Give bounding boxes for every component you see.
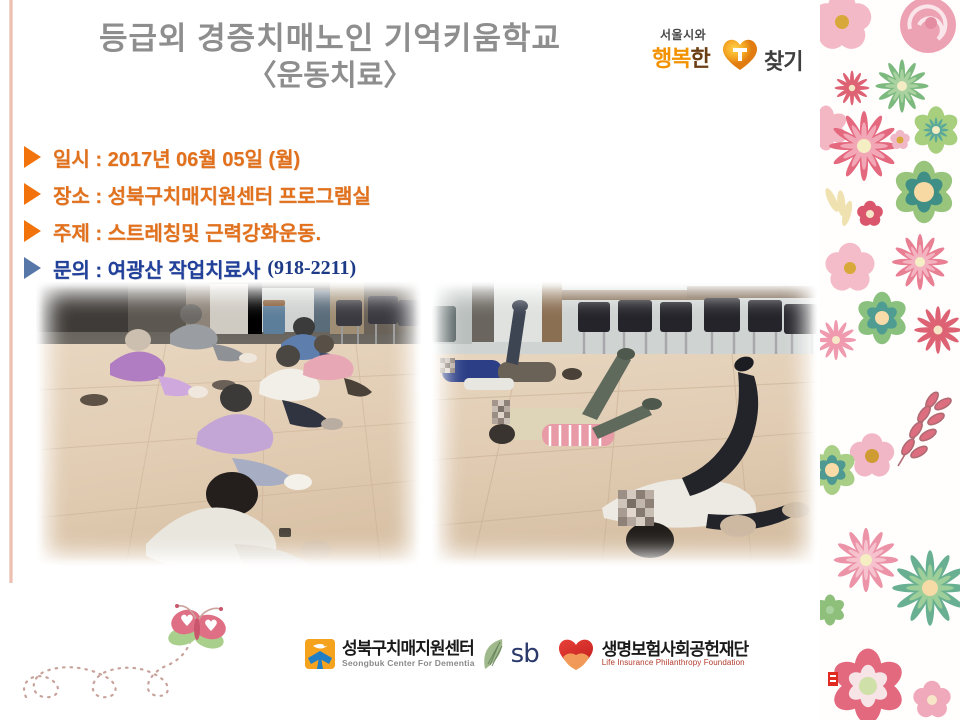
- triangle-bullet-icon: [24, 146, 41, 168]
- seoul-logo-main-text: 행복한: [652, 41, 710, 73]
- seoul-logo-main-b: 한: [690, 46, 709, 71]
- list-item-text: 주제 : 스트레칭및 근력강화운동.: [53, 217, 321, 246]
- life-insurance-foundation-logo: 생명보험사회공헌재단 Life Insurance Philanthropy F…: [557, 637, 748, 671]
- seoul-logo-main-a: 행복: [652, 46, 690, 71]
- triangle-bullet-icon: [24, 183, 41, 205]
- butterfly-icon: [12, 585, 262, 705]
- seongbuk-center-name-kr: 성북구치매지원센터: [342, 640, 475, 658]
- photo-seated-stretching-image: [36, 282, 421, 566]
- life-insurance-name-kr: 생명보험사회공헌재단: [602, 641, 748, 659]
- seoul-logo-tail-text: 찾기: [764, 44, 802, 76]
- photo-floor-leg-raises: [432, 282, 817, 566]
- list-item-text: 문의 : 여광산 작업치료사: [53, 254, 260, 283]
- red-heart-hands-icon: [557, 637, 595, 671]
- seongbuk-center-logo: 성북구치매지원센터 Seongbuk Center For Dementia s…: [305, 637, 539, 671]
- photo-floor-leg-raises-image: [432, 282, 817, 566]
- seongbuk-center-name-en: Seongbuk Center For Dementia: [342, 658, 475, 668]
- heart-icon: [720, 36, 760, 72]
- sb-leaf-icon: [482, 637, 504, 671]
- seongbuk-star-icon: [305, 639, 335, 669]
- seoul-happy-logo: 서울시와 행복한 찾기: [652, 26, 822, 82]
- list-item: 문의 : 여광산 작업치료사 (918-2211): [24, 251, 624, 285]
- photo-seated-stretching: [36, 282, 421, 566]
- footer-logos: 성북구치매지원센터 Seongbuk Center For Dementia s…: [305, 628, 748, 680]
- title-line-1: 등급외 경증치매노인 기억키움학교: [0, 22, 660, 57]
- slide-canvas: 등급외 경증치매노인 기억키움학교 〈운동치료〉 서울시와 행복한 찾기: [0, 0, 960, 720]
- list-item: 일시 : 2017년 06월 05일 (월): [24, 140, 624, 174]
- list-item: 주제 : 스트레칭및 근력강화운동.: [24, 214, 624, 248]
- page-title: 등급외 경증치매노인 기억키움학교 〈운동치료〉: [0, 22, 660, 94]
- info-list: 일시 : 2017년 06월 05일 (월) 장소 : 성북구치매지원센터 프로…: [24, 140, 624, 288]
- sb-wordmark: sb: [511, 639, 539, 669]
- list-item: 장소 : 성북구치매지원센터 프로그램실: [24, 177, 624, 211]
- triangle-bullet-icon: [24, 257, 41, 279]
- floral-border: [820, 0, 960, 720]
- title-line-2: 〈운동치료〉: [0, 59, 660, 94]
- list-item-text: 장소 : 성북구치매지원센터 프로그램실: [53, 180, 371, 209]
- life-insurance-name-en: Life Insurance Philanthropy Foundation: [602, 658, 748, 667]
- list-item-text: 일시 : 2017년 06월 05일 (월): [53, 143, 300, 172]
- triangle-bullet-icon: [24, 220, 41, 242]
- contact-phone-number: (918-2211): [267, 257, 356, 280]
